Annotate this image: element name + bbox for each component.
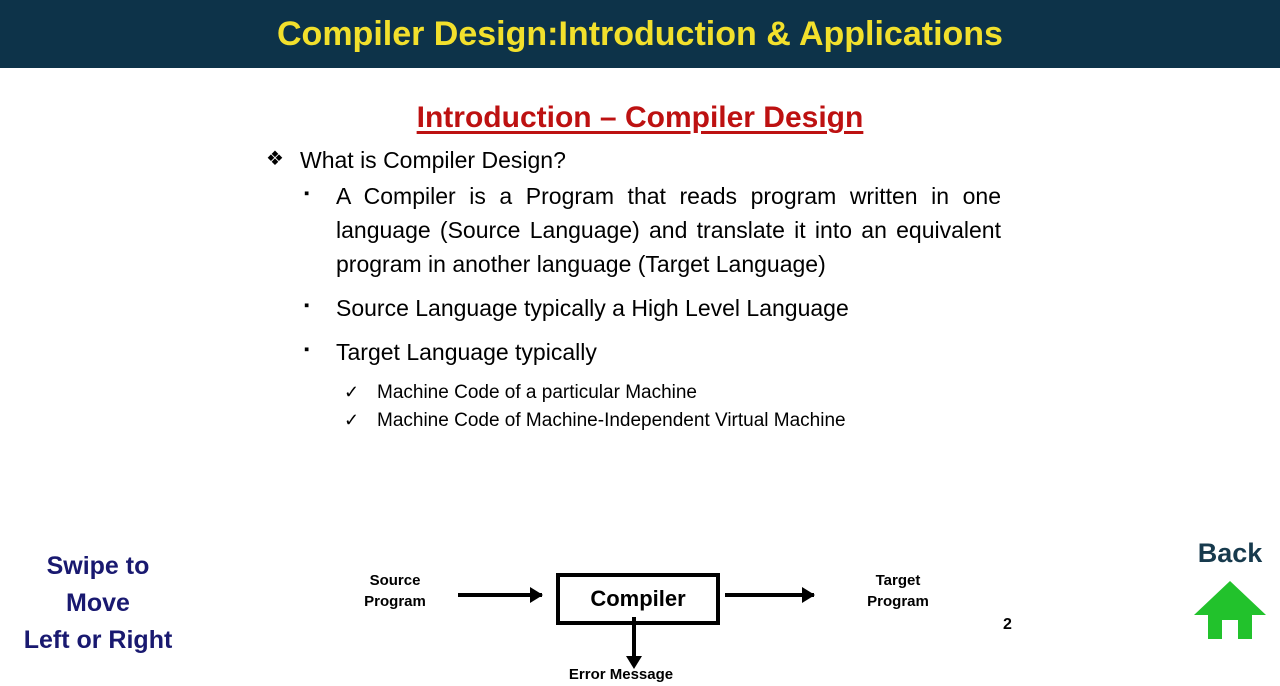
compiler-to-target-arrow-icon <box>725 593 814 597</box>
bullet-level2-item: ▪ A Compiler is a Program that reads pro… <box>304 179 1026 281</box>
bullet-level2-label: A Compiler is a Program that reads progr… <box>336 179 1001 281</box>
compiler-box-label: Compiler <box>590 586 685 612</box>
error-message-label: Error Message <box>526 665 716 686</box>
compiler-box: Compiler <box>556 573 720 625</box>
bullet-level1-item: ❖ What is Compiler Design? <box>266 146 1026 175</box>
bullet-level2-item: ▪ Target Language typically <box>304 335 1026 369</box>
page-number: 2 <box>1003 616 1012 634</box>
slide-title: Compiler Design:Introduction & Applicati… <box>277 15 1003 54</box>
bullet-level3-label: Machine Code of a particular Machine <box>377 379 697 407</box>
target-program-label: Target Program <box>843 571 953 612</box>
square-bullet-icon: ▪ <box>304 291 336 320</box>
bullet-level3-label: Machine Code of Machine-Independent Virt… <box>377 407 846 435</box>
swipe-hint-line2: Move <box>0 585 196 622</box>
check-bullet-icon: ✓ <box>344 407 377 433</box>
compiler-flow-diagram: Source Program Compiler Target Program E… <box>340 498 960 663</box>
back-label[interactable]: Back <box>1180 540 1280 567</box>
source-program-line1: Source <box>340 571 450 592</box>
slide-header-bar: Compiler Design:Introduction & Applicati… <box>0 0 1280 68</box>
square-bullet-icon: ▪ <box>304 335 336 364</box>
source-program-line2: Program <box>340 592 450 613</box>
bullet-level3-item: ✓ Machine Code of a particular Machine <box>344 379 1026 407</box>
diamond-bullet-icon: ❖ <box>266 146 300 172</box>
bullet-level2-item: ▪ Source Language typically a High Level… <box>304 291 1026 325</box>
home-icon[interactable] <box>1192 579 1268 641</box>
source-to-compiler-arrow-icon <box>458 593 542 597</box>
target-program-line2: Program <box>843 592 953 613</box>
back-navigation[interactable]: Back <box>1180 540 1280 641</box>
check-bullet-icon: ✓ <box>344 379 377 405</box>
swipe-hint-line1: Swipe to <box>0 548 196 585</box>
target-program-line1: Target <box>843 571 953 592</box>
bullet-level1-label: What is Compiler Design? <box>300 146 566 175</box>
bullet-list: ❖ What is Compiler Design? ▪ A Compiler … <box>266 146 1026 436</box>
swipe-hint-line3: Left or Right <box>0 622 196 659</box>
compiler-to-error-arrow-icon <box>632 617 636 658</box>
bullet-level2-label: Source Language typically a High Level L… <box>336 291 1001 325</box>
slide-body: Introduction – Compiler Design ❖ What is… <box>0 68 1280 670</box>
source-program-label: Source Program <box>340 571 450 612</box>
swipe-hint: Swipe to Move Left or Right <box>0 548 196 658</box>
section-heading: Introduction – Compiler Design <box>0 101 1280 135</box>
square-bullet-icon: ▪ <box>304 179 336 208</box>
bullet-level2-label: Target Language typically <box>336 335 1001 369</box>
bullet-level3-item: ✓ Machine Code of Machine-Independent Vi… <box>344 407 1026 435</box>
